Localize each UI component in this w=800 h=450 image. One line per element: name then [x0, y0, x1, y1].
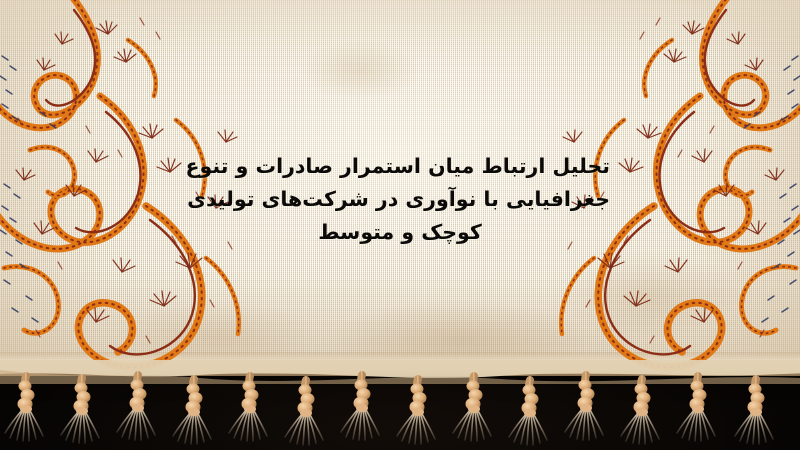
cloth-stain	[300, 40, 420, 100]
title-line-3: کوچک و متوسط	[190, 216, 610, 249]
title-slide: تحلیل ارتباط میان استمرار صادرات و تنوع …	[0, 0, 800, 450]
title-line-2: جغرافیایی با نوآوری در شرکت‌های تولیدی	[190, 183, 610, 216]
slide-title: تحلیل ارتباط میان استمرار صادرات و تنوع …	[190, 150, 610, 249]
title-line-1: تحلیل ارتباط میان استمرار صادرات و تنوع	[190, 150, 610, 183]
knotted-tassel-fringe	[0, 360, 800, 450]
